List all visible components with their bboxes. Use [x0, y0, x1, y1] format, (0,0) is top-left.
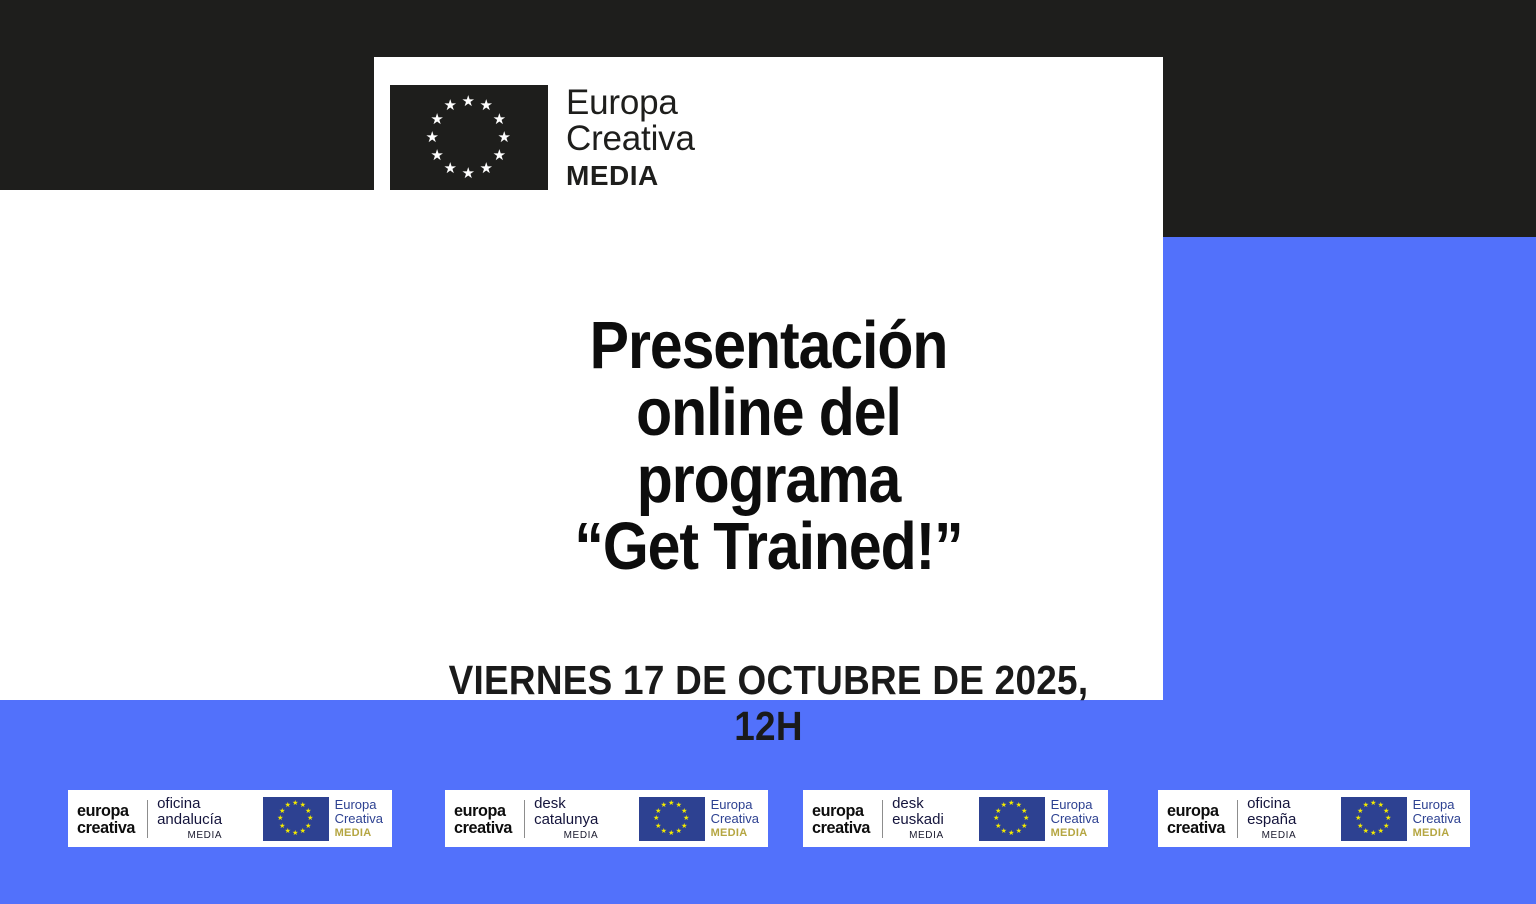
partner-logo-catalunya: europa creativa desk catalunya MEDIA ★★★…	[445, 790, 768, 847]
office-name: oficina andalucía MEDIA	[157, 796, 222, 842]
poster-canvas: ★★★★★★★★★★★★ Europa Creativa MEDIA Prese…	[0, 0, 1536, 904]
brand-line2: creativa	[1167, 819, 1225, 836]
ec-line2: Creativa	[1413, 812, 1461, 826]
header-logo: ★★★★★★★★★★★★ Europa Creativa MEDIA	[390, 85, 722, 190]
eu-cofunding-mark: ★★★★★★★★★★★★ Europa Creativa MEDIA	[263, 797, 383, 841]
eu-cofunding-mark: ★★★★★★★★★★★★ Europa Creativa MEDIA	[979, 797, 1099, 841]
header-logo-text: Europa Creativa MEDIA	[566, 85, 695, 193]
ec-line1: Europa	[1051, 798, 1099, 812]
eu-flag-icon: ★★★★★★★★★★★★	[1341, 797, 1407, 841]
eu-cofunding-text: Europa Creativa MEDIA	[1051, 798, 1099, 840]
eu-cofunding-text: Europa Creativa MEDIA	[711, 798, 759, 840]
ec-line3: MEDIA	[1051, 827, 1099, 840]
header-logo-line1: Europa	[566, 85, 695, 121]
divider	[524, 800, 525, 838]
event-datetime: VIERNES 17 DE OCTUBRE DE 2025, 12H	[413, 657, 1123, 749]
office-sub: MEDIA	[892, 830, 944, 842]
divider	[147, 800, 148, 838]
divider	[882, 800, 883, 838]
partner-logo-euskadi: europa creativa desk euskadi MEDIA ★★★★★…	[803, 790, 1108, 847]
page-title: Presentación online del programa “Get Tr…	[421, 312, 1115, 580]
ec-line2: Creativa	[711, 812, 759, 826]
ec-line3: MEDIA	[1413, 827, 1461, 840]
office-sub: MEDIA	[1247, 830, 1296, 842]
eu-flag-icon: ★★★★★★★★★★★★	[639, 797, 705, 841]
brand-wordmark: europa creativa	[454, 802, 515, 836]
eu-flag-icon: ★★★★★★★★★★★★	[390, 85, 548, 190]
ec-line1: Europa	[335, 798, 383, 812]
office-sub: MEDIA	[534, 830, 598, 842]
office-line1: desk	[534, 796, 598, 812]
ec-line1: Europa	[1413, 798, 1461, 812]
brand-line1: europa	[812, 802, 870, 819]
eu-cofunding-mark: ★★★★★★★★★★★★ Europa Creativa MEDIA	[639, 797, 759, 841]
office-name: oficina españa MEDIA	[1247, 796, 1296, 842]
header-logo-line3: MEDIA	[566, 159, 695, 193]
office-sub: MEDIA	[157, 830, 222, 842]
office-line2: españa	[1247, 812, 1296, 828]
title-line-1: Presentación	[421, 312, 1115, 379]
ec-line3: MEDIA	[711, 827, 759, 840]
ec-line2: Creativa	[335, 812, 383, 826]
office-line1: desk	[892, 796, 944, 812]
brand-line1: europa	[77, 802, 135, 819]
brand-line1: europa	[454, 802, 512, 819]
divider	[1237, 800, 1238, 838]
partner-logo-andalucia: europa creativa oficina andalucía MEDIA …	[68, 790, 392, 847]
brand-line1: europa	[1167, 802, 1225, 819]
office-line2: euskadi	[892, 812, 944, 828]
ec-line1: Europa	[711, 798, 759, 812]
ec-line3: MEDIA	[335, 827, 383, 840]
office-line2: catalunya	[534, 812, 598, 828]
partner-logo-espana: europa creativa oficina españa MEDIA ★★★…	[1158, 790, 1470, 847]
office-name: desk euskadi MEDIA	[892, 796, 944, 842]
eu-cofunding-mark: ★★★★★★★★★★★★ Europa Creativa MEDIA	[1341, 797, 1461, 841]
eu-cofunding-text: Europa Creativa MEDIA	[1413, 798, 1461, 840]
ec-line2: Creativa	[1051, 812, 1099, 826]
brand-wordmark: europa creativa	[812, 802, 873, 836]
brand-wordmark: europa creativa	[77, 802, 138, 836]
partner-logo-row: europa creativa oficina andalucía MEDIA …	[0, 790, 1536, 848]
brand-line2: creativa	[812, 819, 870, 836]
title-line-4: “Get Trained!”	[421, 513, 1115, 580]
title-line-2: online del	[421, 379, 1115, 446]
eu-flag-icon: ★★★★★★★★★★★★	[263, 797, 329, 841]
brand-line2: creativa	[77, 819, 135, 836]
office-name: desk catalunya MEDIA	[534, 796, 598, 842]
office-line2: andalucía	[157, 812, 222, 828]
eu-flag-icon: ★★★★★★★★★★★★	[979, 797, 1045, 841]
office-line1: oficina	[157, 796, 222, 812]
title-line-3: programa	[421, 446, 1115, 513]
header-logo-line2: Creativa	[566, 121, 695, 157]
eu-cofunding-text: Europa Creativa MEDIA	[335, 798, 383, 840]
office-line1: oficina	[1247, 796, 1296, 812]
brand-line2: creativa	[454, 819, 512, 836]
brand-wordmark: europa creativa	[1167, 802, 1228, 836]
